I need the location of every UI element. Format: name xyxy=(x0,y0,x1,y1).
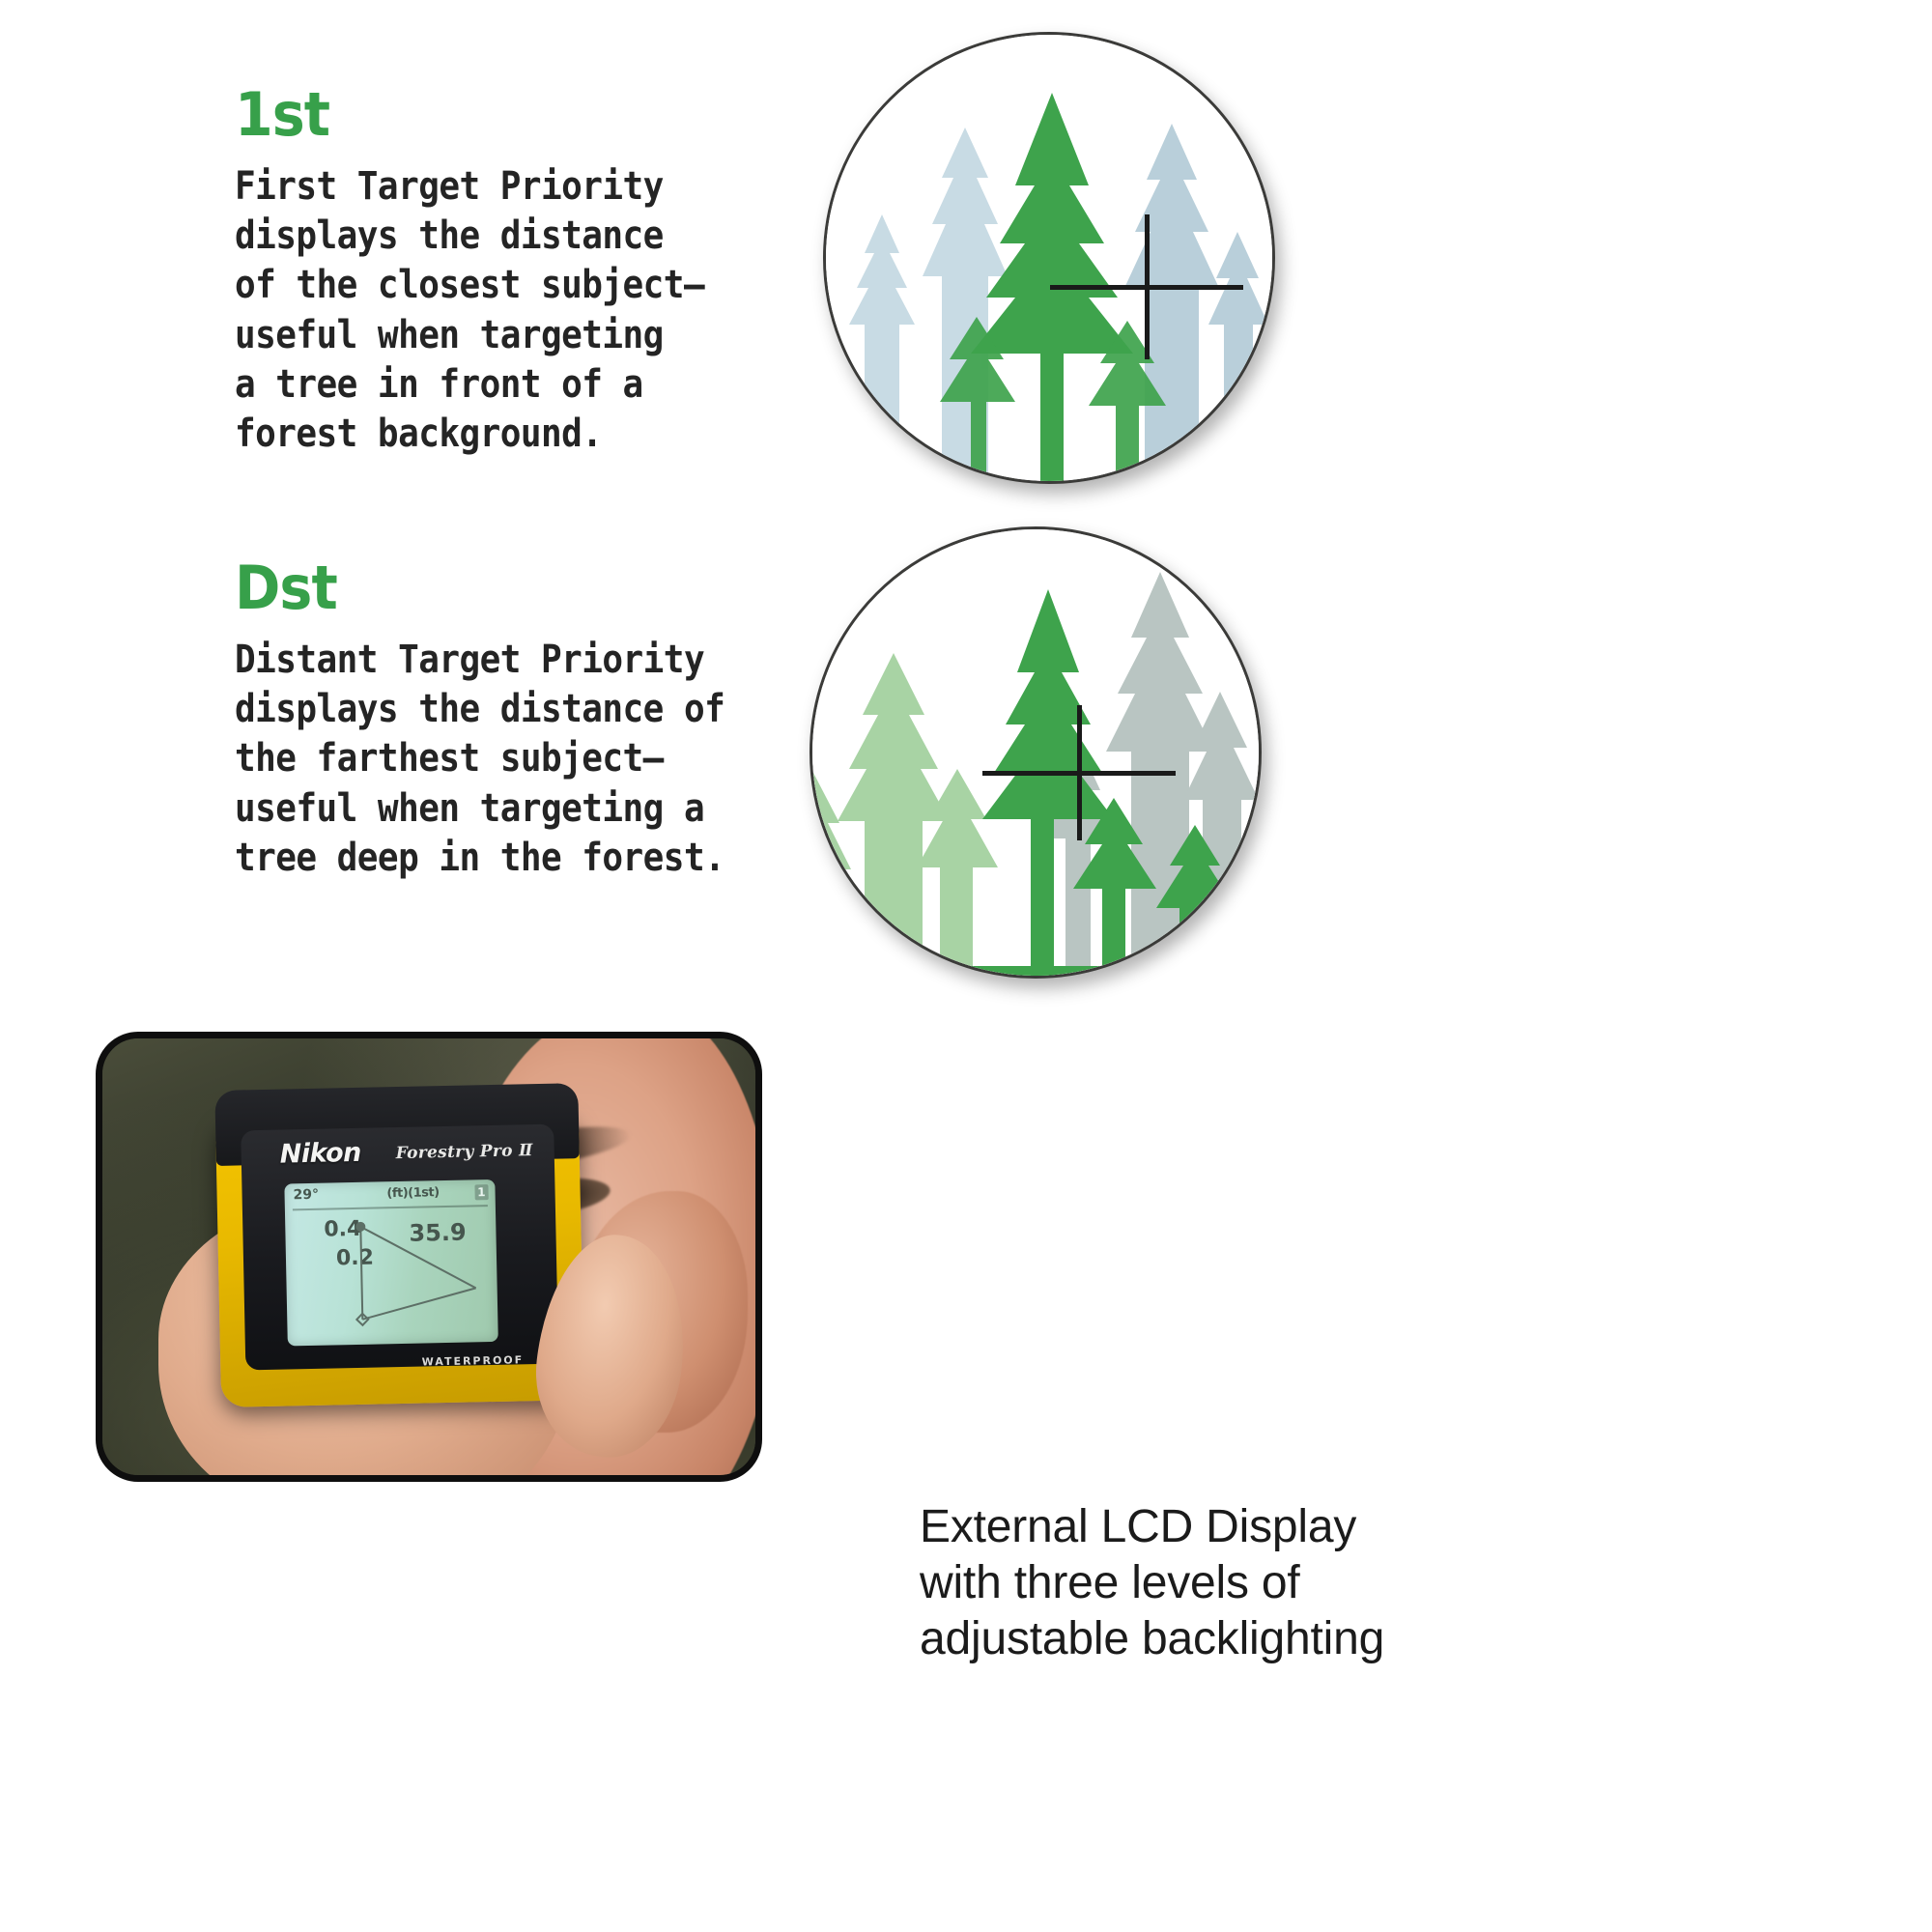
scope-view-distant-target xyxy=(810,526,1262,979)
waterproof-label: WATERPROOF xyxy=(422,1353,525,1368)
feature-block-distant-target-priority: Dst Distant Target Priority displays the… xyxy=(235,558,814,883)
device-branding: Nikon Forestry Pro Ⅱ xyxy=(241,1134,554,1178)
feature-body-distant-target-priority: Distant Target Priority displays the dis… xyxy=(235,636,756,883)
feature-body-first-target-priority: First Target Priority displays the dista… xyxy=(235,162,756,459)
scope-view-first-target xyxy=(823,32,1275,484)
device-lcd-screen: 29° (ft)(1st) 1 0.4 0.2 35.9 xyxy=(284,1179,497,1347)
forest-scene-first-icon xyxy=(826,35,1275,484)
lcd-triangle-diagram-icon xyxy=(284,1179,497,1347)
device-front-panel: Nikon Forestry Pro Ⅱ 29° (ft)(1st) 1 0.4… xyxy=(241,1124,558,1371)
scope-dist-scene xyxy=(812,529,1259,976)
page-canvas: 1st First Target Priority displays the d… xyxy=(0,0,1932,1932)
external-lcd-display-caption: External LCD Display with three levels o… xyxy=(920,1499,1538,1667)
device-model-name: Forestry Pro Ⅱ xyxy=(396,1141,533,1163)
product-photo-rangefinder-in-hand: Nikon Forestry Pro Ⅱ 29° (ft)(1st) 1 0.4… xyxy=(96,1032,762,1482)
feature-heading-1st: 1st xyxy=(235,85,768,145)
nikon-forestry-pro-ii-device: Nikon Forestry Pro Ⅱ 29° (ft)(1st) 1 0.4… xyxy=(215,1110,584,1407)
nikon-logo: Nikon xyxy=(279,1138,361,1170)
feature-block-first-target-priority: 1st First Target Priority displays the d… xyxy=(235,85,814,459)
scope-first-scene xyxy=(826,35,1272,481)
forest-scene-distant-icon xyxy=(812,529,1262,979)
feature-heading-dst: Dst xyxy=(235,558,768,618)
